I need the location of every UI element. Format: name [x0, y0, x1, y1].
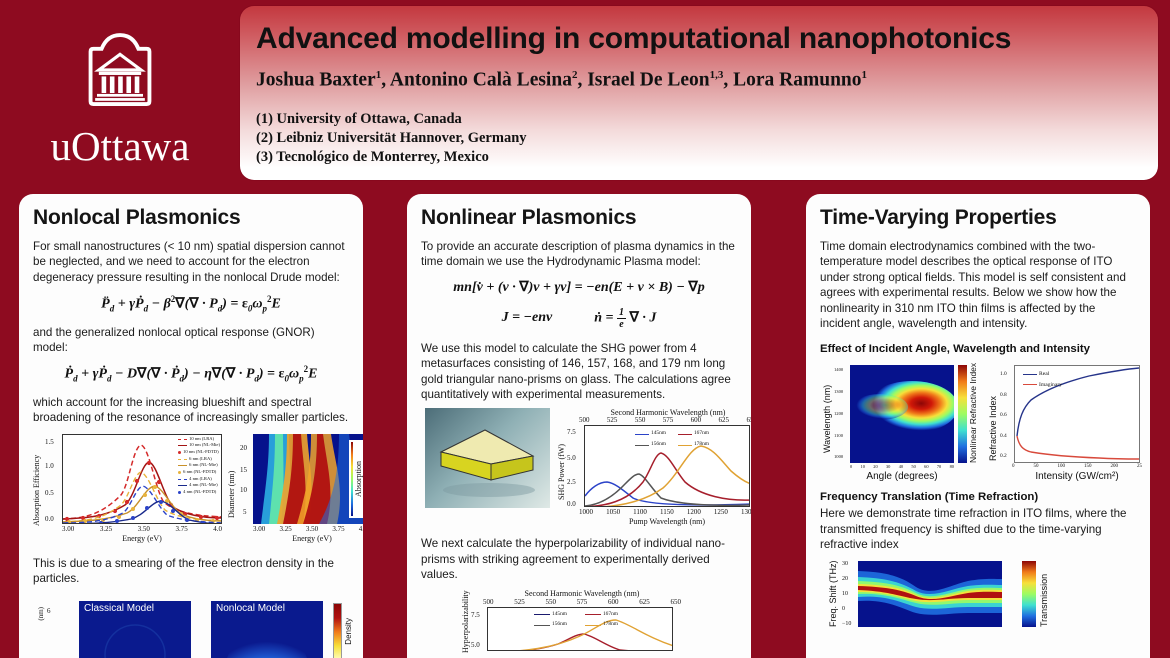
- shg-top-xtick: 575: [663, 416, 674, 424]
- section-nonlinear-plasmonics: Nonlinear Plasmonics To provide an accur…: [407, 194, 751, 658]
- nri-ylabel: Wavelength (nm): [822, 367, 832, 453]
- shg-top-xtick: 650: [746, 416, 751, 424]
- legend-item: 10 nm (NL-Mie): [178, 442, 220, 449]
- hyper-top-axis-label: Second Harmonic Wavelength (nm): [487, 589, 677, 598]
- absorption-xtick: 4.0: [213, 525, 222, 533]
- hyper-top-xtick: 575: [577, 598, 588, 606]
- legend-item: 10 nm (NL-FDTD): [178, 449, 220, 456]
- tv-subheading-2: Frequency Translation (Time Refraction): [820, 491, 1136, 503]
- transmission-colorbar-label: Transmission: [1039, 561, 1049, 627]
- absorption-ytick-0.0: 0.0: [45, 515, 54, 523]
- chart-diameter-absorption-map: Diameter (nm) 20 15 10 5: [229, 432, 363, 550]
- section-heading-time-varying: Time-Varying Properties: [820, 206, 1136, 230]
- diameter-ytick: 20: [240, 444, 247, 452]
- legend-item: 156nm: [534, 621, 567, 629]
- affiliation-list: (1) University of Ottawa, Canada (2) Lei…: [256, 110, 1140, 167]
- author-2-sup: 2: [572, 69, 578, 81]
- diameter-xlabel: Energy (eV): [253, 534, 363, 543]
- nri-xtick: 0: [850, 464, 852, 469]
- legend-item: 6 nm (NL-FDTD): [178, 469, 220, 476]
- section-heading-nonlocal: Nonlocal Plasmonics: [33, 206, 349, 230]
- absorption-colorbar: [351, 442, 353, 516]
- ri-xtick: 25: [1137, 464, 1142, 469]
- poster-root: uOttawa Advanced modelling in computatio…: [0, 0, 1170, 658]
- chart-refractive-index-vs-intensity: Refractive Index 1.0 0.8 0.6 0.4 0.2 Rea…: [988, 359, 1146, 489]
- diameter-ytick: 15: [240, 466, 247, 474]
- legend-item: 178nm: [585, 621, 618, 629]
- chart-frequency-shift-map: Freq. Shift (THz) 30 20 10 0 −10: [820, 559, 1136, 629]
- hyper-legend: 145nm 167nm 156nm 178nm: [534, 611, 666, 630]
- density-colorbar-label: Density: [344, 618, 353, 645]
- freq-ytick: 0: [842, 606, 851, 612]
- classical-model-panel: Classical Model: [79, 601, 191, 658]
- shg-xtick: 1150: [660, 508, 674, 516]
- diameter-xtick: 3.75: [332, 525, 344, 533]
- tv-paragraph-2: Here we demonstrate time refraction in I…: [820, 506, 1136, 552]
- absorption-ytick-1.0: 1.0: [45, 462, 54, 470]
- nonlocal-paragraph-3: which account for the increasing blueshi…: [33, 395, 349, 426]
- absorption-colorbar-label: Absorption: [354, 461, 363, 497]
- tv-paragraph-1: Time domain electrodynamics combined wit…: [820, 239, 1136, 331]
- ri-xtick: 0: [1012, 464, 1015, 469]
- freq-ytick: 20: [842, 576, 851, 582]
- chart-absorption-efficiency: Absorption Efficiency 1.5 1.0 0.5 0.0: [33, 432, 227, 550]
- legend-item: 145nm: [534, 611, 567, 619]
- gnor-equation: Ṗd + γṖd − D∇(∇ · Ṗd) − η∇(∇ · Pd) = …: [33, 364, 349, 383]
- ri-xtick: 200: [1111, 464, 1119, 469]
- legend-item: 4 nm (NL-Mie): [178, 482, 220, 489]
- legend-item: 145nm: [635, 430, 666, 438]
- shg-top-xtick: 625: [719, 416, 730, 424]
- nri-colorbar-label: Nonlinear Refractive Index: [968, 365, 978, 463]
- hyper-ytick: 7.5: [471, 611, 480, 619]
- shg-ytick: 5.0: [567, 454, 576, 462]
- legend-item: Imaginary: [1023, 381, 1062, 389]
- shg-legend: 145nm 167nm 156nm 178nm: [635, 430, 747, 449]
- section-time-varying-properties: Time-Varying Properties Time domain elec…: [806, 194, 1150, 658]
- uottawa-wordmark: uOttawa: [51, 126, 190, 167]
- tv-subheading-1: Effect of Incident Angle, Wavelength and…: [820, 343, 1136, 355]
- affiliation-2: (2) Leibniz Universität Hannover, German…: [256, 129, 1140, 148]
- diameter-xtick: 3.25: [279, 525, 291, 533]
- ri-legend: Real Imaginary: [1023, 370, 1062, 388]
- figure-angle-intensity-pair: Wavelength (nm) 1400 1300 1200 1100 1000: [820, 359, 1136, 489]
- absorption-xtick: 3.00: [62, 525, 74, 533]
- legend-item: 167nm: [678, 430, 709, 438]
- diameter-ylabel: Diameter (nm): [227, 438, 236, 518]
- author-list: Joshua Baxter1, Antonino Calà Lesina2, I…: [256, 69, 1140, 92]
- ri-xtick: 100: [1058, 464, 1066, 469]
- legend-item: 10 nm (LRA): [178, 436, 220, 443]
- ri-ylabel: Refractive Index: [988, 371, 998, 461]
- hyper-top-xtick: 550: [546, 598, 557, 606]
- nri-ytick: 1200: [834, 411, 843, 416]
- classical-model-label: Classical Model: [79, 601, 159, 616]
- author-1: Joshua Baxter: [256, 70, 376, 91]
- absorption-xtick: 3.75: [175, 525, 187, 533]
- nonlocal-drude-equation: P̈d + γṖd − β2∇(∇ · Pd) = ε0ωp2E: [33, 294, 349, 313]
- nri-ytick: 1400: [834, 367, 843, 372]
- nri-xtick: 10: [861, 464, 865, 469]
- affiliation-3: (3) Tecnológico de Monterrey, Mexico: [256, 148, 1140, 167]
- author-3-sup: 1,3: [710, 69, 724, 81]
- freq-ytick: 10: [842, 591, 851, 597]
- figure-shg-pair: Second Harmonic Wavelength (nm) 500 525 …: [421, 408, 737, 526]
- nonlinear-paragraph-2: We use this model to calculate the SHG p…: [421, 341, 737, 403]
- nri-ytick: 1300: [834, 389, 843, 394]
- ri-ytick: 0.4: [1000, 433, 1007, 439]
- nri-xtick: 20: [873, 464, 877, 469]
- nri-ytick: 1000: [834, 454, 843, 459]
- hydrodynamic-plasma-equation: mn[v̇ + (v · ∇)v + γv] = −en(E + v × B) …: [421, 279, 737, 296]
- absorption-xtick: 3.50: [138, 525, 150, 533]
- shg-xtick: 1100: [633, 508, 647, 516]
- freq-map-image: [858, 561, 1002, 627]
- density-colorbar: [333, 603, 342, 658]
- shg-top-xtick: 500: [579, 416, 590, 424]
- hyper-ytick: 5.0: [471, 641, 480, 649]
- author-1-sup: 1: [376, 69, 382, 81]
- nanoprism-render: [425, 408, 550, 508]
- density-ylabel: (nm): [37, 607, 45, 621]
- hyper-ylabel: Hyperpolarizability: [461, 609, 470, 653]
- figure-absorption-pair: Absorption Efficiency 1.5 1.0 0.5 0.0: [33, 432, 349, 550]
- ri-xlabel: Intensity (GW/cm²): [1004, 471, 1150, 482]
- current-continuity-equations: J = −env ṅ = 1e ∇ · J: [421, 307, 737, 330]
- diameter-map-image: [253, 434, 363, 524]
- author-3: Israel De Leon: [587, 70, 709, 91]
- ri-ytick: 0.2: [1000, 453, 1007, 459]
- chart-nonlinear-refractive-index-map: Wavelength (nm) 1400 1300 1200 1100 1000: [820, 359, 982, 489]
- shg-ytick: 0.0: [567, 500, 576, 508]
- legend-item: 4 nm (NL-FDTD): [178, 489, 220, 496]
- hyper-top-xtick: 625: [639, 598, 650, 606]
- current-density-equation: J = −env: [502, 310, 553, 326]
- ri-ytick: 0.6: [1000, 412, 1007, 418]
- absorption-ytick-0.5: 0.5: [45, 489, 54, 497]
- nri-xtick: 30: [886, 464, 890, 469]
- nonlinear-paragraph-3: We next calculate the hyperpolarizabilit…: [421, 536, 737, 582]
- author-4-sup: 1: [862, 69, 868, 81]
- shg-xtick: 1050: [606, 508, 620, 516]
- chart-hyperpolarizability: Second Harmonic Wavelength (nm) 500 525 …: [421, 589, 737, 651]
- diameter-xtick: 3.50: [306, 525, 318, 533]
- nonlocal-paragraph-1: For small nanostructures (< 10 nm) spati…: [33, 239, 349, 285]
- legend-item: 6 nm (LRA): [178, 456, 220, 463]
- figure-density-comparison: (nm) 6 Classical Model Nonlocal Model: [33, 593, 349, 658]
- legend-item: 178nm: [678, 441, 709, 449]
- absorption-ylabel: Absorption Efficiency: [32, 440, 41, 526]
- legend-item: Real: [1023, 370, 1062, 378]
- transmission-colorbar: [1022, 561, 1036, 627]
- shg-top-xtick: 600: [691, 416, 702, 424]
- ri-xtick: 150: [1084, 464, 1092, 469]
- absorption-ytick-1.5: 1.5: [45, 438, 54, 446]
- shg-xtick: 1200: [687, 508, 701, 516]
- chart-shg-power: Second Harmonic Wavelength (nm) 500 525 …: [557, 408, 751, 526]
- shg-top-xtick: 525: [607, 416, 618, 424]
- freq-ytick: 30: [842, 561, 851, 567]
- diameter-xtick: 3.00: [253, 525, 265, 533]
- freq-ytick: −10: [842, 621, 851, 627]
- section-heading-nonlinear: Nonlinear Plasmonics: [421, 206, 737, 230]
- author-2: Antonino Calà Lesina: [390, 70, 572, 91]
- shg-xlabel: Pump Wavelength (nm): [584, 517, 750, 526]
- absorption-xtick: 3.25: [100, 525, 112, 533]
- uottawa-logo: uOttawa: [0, 0, 240, 190]
- nonlocal-model-panel: Nonlocal Model: [211, 601, 323, 658]
- shg-ytick: 2.5: [567, 478, 576, 486]
- shg-ylabel: SHG Power (fW): [557, 428, 566, 500]
- nonlocal-model-label: Nonlocal Model: [211, 601, 290, 616]
- ri-ytick: 0.8: [1000, 392, 1007, 398]
- legend-item: 167nm: [585, 611, 618, 619]
- nonlocal-paragraph-4: This is due to a smearing of the free el…: [33, 556, 349, 587]
- nri-xlabel: Angle (degrees): [844, 471, 960, 482]
- shg-ytick: 7.5: [567, 428, 576, 436]
- diameter-ytick: 5: [243, 508, 247, 516]
- nri-ytick: 1100: [834, 433, 843, 438]
- nri-colorbar: [958, 365, 967, 463]
- nonlocal-paragraph-2: and the generalized nonlocal optical res…: [33, 325, 349, 356]
- nri-map-image: [850, 365, 954, 463]
- nri-xtick: 60: [924, 464, 928, 469]
- nri-xtick: 50: [911, 464, 915, 469]
- ri-xtick: 50: [1034, 464, 1039, 469]
- density-ytick: 6: [47, 607, 51, 615]
- nri-xtick: 80: [950, 464, 954, 469]
- hyper-top-xtick: 500: [483, 598, 494, 606]
- diameter-xtick: 4.00: [359, 525, 363, 533]
- university-building-icon: [74, 24, 166, 116]
- shg-top-xtick: 550: [635, 416, 646, 424]
- shg-xtick: 1000: [579, 508, 593, 516]
- freq-ylabel: Freq. Shift (THz): [828, 561, 838, 627]
- nri-xtick: 70: [937, 464, 941, 469]
- section-nonlocal-plasmonics: Nonlocal Plasmonics For small nanostruct…: [19, 194, 363, 658]
- continuity-equation: ṅ = 1e ∇ · J: [594, 307, 656, 330]
- shg-xtick: 1300: [741, 508, 751, 516]
- legend-item: 4 nm (LRA): [178, 476, 220, 483]
- diameter-ytick: 10: [240, 486, 247, 494]
- affiliation-1: (1) University of Ottawa, Canada: [256, 110, 1140, 129]
- nri-xtick: 40: [899, 464, 903, 469]
- nonlinear-paragraph-1: To provide an accurate description of pl…: [421, 239, 737, 270]
- page-title: Advanced modelling in computational nano…: [256, 22, 1140, 55]
- absorption-xlabel: Energy (eV): [62, 534, 222, 543]
- poster-header: Advanced modelling in computational nano…: [240, 6, 1158, 180]
- ri-ytick: 1.0: [1000, 371, 1007, 377]
- author-4: Lora Ramunno: [733, 70, 861, 91]
- density-colorbar-group: Density: [333, 601, 353, 658]
- hyper-top-xtick: 525: [514, 598, 525, 606]
- shg-xtick: 1250: [714, 508, 728, 516]
- hyper-top-xtick: 650: [671, 598, 682, 606]
- legend-item: 156nm: [635, 441, 666, 449]
- hyper-top-xtick: 600: [608, 598, 619, 606]
- legend-item: 6 nm (NL-Mie): [178, 462, 220, 469]
- absorption-legend: 10 nm (LRA) 10 nm (NL-Mie) 10 nm (NL-FDT…: [178, 436, 220, 496]
